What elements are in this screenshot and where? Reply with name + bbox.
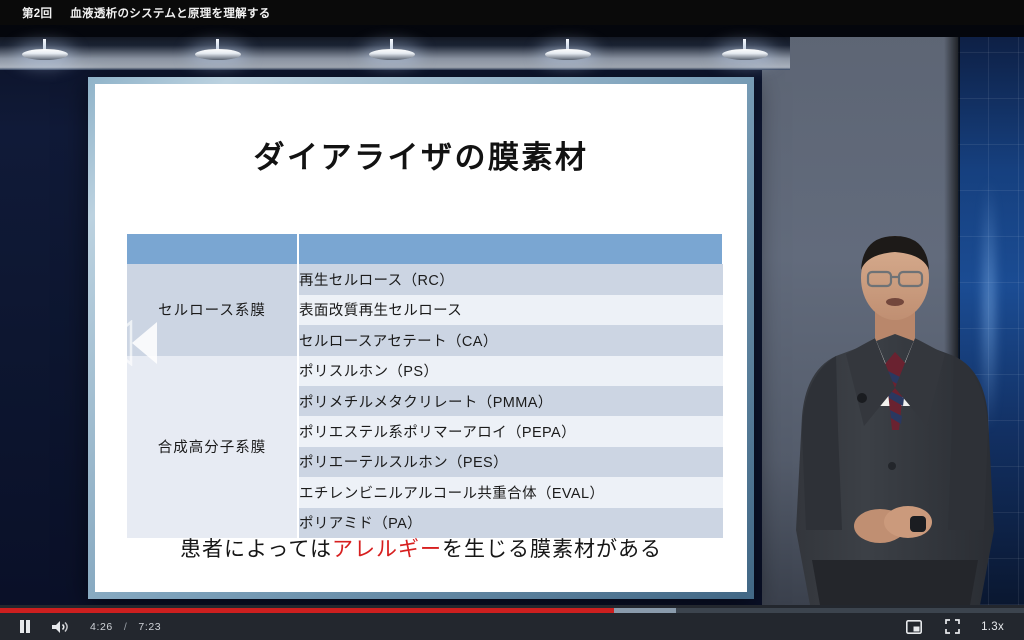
slide-note-after: を生じる膜素材がある <box>442 538 662 561</box>
table-cell-material: 再生セルロース（RC） <box>298 264 723 294</box>
table-row: セルロース系膜 再生セルロース（RC） <box>127 264 723 294</box>
slide-note-before: 患者によっては <box>180 538 332 561</box>
playback-speed-button[interactable]: 1.3x <box>973 621 1012 633</box>
player-control-bar[interactable]: 4:26 / 7:23 1.3x <box>0 605 1024 640</box>
ceiling-light-icon <box>545 39 591 61</box>
membrane-material-table: セルロース系膜 再生セルロース（RC） 表面改質再生セルロース セルロースアセテ… <box>127 234 724 538</box>
table-cell-material: ポリスルホン（PS） <box>298 356 723 386</box>
table-cell-material: セルロースアセテート（CA） <box>298 325 723 355</box>
ceiling-light-icon <box>369 39 415 61</box>
window-title-bar: 第2回 血液透析のシステムと原理を理解する <box>0 0 1024 25</box>
time-separator: / <box>124 621 128 633</box>
slide-note: 患者によってはアレルギーを生じる膜素材がある <box>95 533 747 563</box>
duration: 7:23 <box>138 621 161 633</box>
lecture-number: 第2回 <box>22 5 52 21</box>
volume-on-icon[interactable] <box>42 613 76 640</box>
table-header-row <box>127 234 723 264</box>
table-cell-material: ポリメチルメタクリレート（PMMA） <box>298 386 723 416</box>
table-cell-material: ポリエーテルスルホン（PES） <box>298 447 723 477</box>
table-cell-category: セルロース系膜 <box>127 264 298 355</box>
projection-screen-frame: ダイアライザの膜素材 セルロース系膜 再生セルロース（RC） 表面改質再生セルロ… <box>88 77 754 599</box>
table-cell-material: 表面改質再生セルロース <box>298 295 723 325</box>
current-time: 4:26 <box>90 621 113 633</box>
table-header-cell-material <box>298 234 723 264</box>
fullscreen-icon[interactable] <box>935 613 969 640</box>
table-cell-material: エチレンビニルアルコール共重合体（EVAL） <box>298 477 723 507</box>
studio-ceiling-shadow <box>0 25 1024 37</box>
picture-in-picture-icon[interactable] <box>897 613 931 640</box>
table-row: 合成高分子系膜 ポリスルホン（PS） <box>127 356 723 386</box>
table-cell-material: ポリエステル系ポリマーアロイ（PEPA） <box>298 416 723 446</box>
time-display: 4:26 / 7:23 <box>90 621 161 633</box>
ceiling-light-icon <box>195 39 241 61</box>
ceiling-light-icon <box>22 39 68 61</box>
lecture-title: 血液透析のシステムと原理を理解する <box>70 5 270 21</box>
table-header-cell-category <box>127 234 298 264</box>
presentation-slide: ダイアライザの膜素材 セルロース系膜 再生セルロース（RC） 表面改質再生セルロ… <box>95 84 747 592</box>
video-player-window: 第2回 血液透析のシステムと原理を理解する ダイアライザの膜素材 <box>0 0 1024 640</box>
slide-title: ダイアライザの膜素材 <box>95 132 747 177</box>
presenter-figure <box>780 230 1010 605</box>
video-stage[interactable]: ダイアライザの膜素材 セルロース系膜 再生セルロース（RC） 表面改質再生セルロ… <box>0 25 1024 605</box>
table-cell-category: 合成高分子系膜 <box>127 356 298 538</box>
pause-icon[interactable] <box>8 613 42 640</box>
slide-note-highlight: アレルギー <box>332 538 442 561</box>
table-body: セルロース系膜 再生セルロース（RC） 表面改質再生セルロース セルロースアセテ… <box>127 234 723 538</box>
ceiling-light-icon <box>722 39 768 61</box>
